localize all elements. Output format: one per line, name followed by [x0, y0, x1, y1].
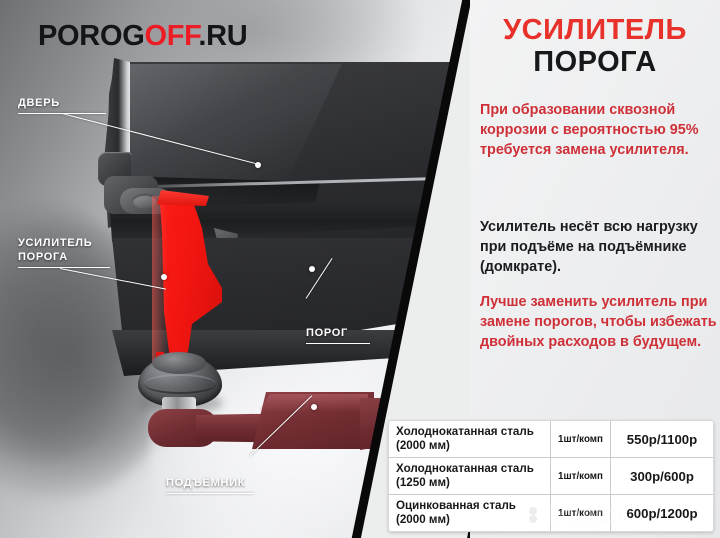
table-cell-name: Холоднокатанная сталь (1250 мм)	[389, 458, 551, 494]
paragraph-load: Усилитель несёт всю нагрузку при подъёме…	[480, 217, 718, 277]
table-cell-qty: 1шт/комп	[551, 421, 611, 457]
callout-door: ДВЕРЬ	[18, 96, 106, 114]
logo[interactable]: POROGOFF.RU	[38, 20, 247, 53]
callout-lift-underline	[166, 493, 254, 494]
leader-dot-door	[255, 162, 261, 168]
paragraph-corrosion: При образовании сквозной коррозии с веро…	[480, 100, 718, 160]
price-table: Холоднокатанная сталь (2000 мм) 1шт/комп…	[388, 420, 714, 532]
logo-part-ru: .RU	[198, 20, 247, 52]
page-title: УСИЛИТЕЛЬ ПОРОГА	[470, 14, 720, 78]
table-cell-qty: 1шт/комп	[551, 495, 611, 531]
logo-part-porog: POROG	[38, 20, 144, 52]
logo-part-off: OFF	[144, 20, 198, 52]
table-cell-qty: 1шт/комп	[551, 458, 611, 494]
leader-dot-lift	[311, 404, 317, 410]
callout-door-label: ДВЕРЬ	[18, 96, 106, 110]
page-title-line1: УСИЛИТЕЛЬ	[470, 14, 720, 46]
page-title-line2: ПОРОГА	[470, 46, 720, 78]
callout-reinforcement-label-line1: УСИЛИТЕЛЬ	[18, 236, 110, 250]
callout-reinforcement-underline	[18, 267, 110, 268]
table-cell-name: Оцинкованная сталь (2000 мм)	[389, 495, 551, 531]
table-row: Оцинкованная сталь (2000 мм) 1шт/комп 60…	[389, 495, 713, 531]
table-cell-price: 600р/1200р	[611, 495, 713, 531]
table-cell-name: Холоднокатанная сталь (2000 мм)	[389, 421, 551, 457]
infographic-canvas: ДВЕРЬ УСИЛИТЕЛЬ ПОРОГА ПОРОГ ПОДЪЁМНИК У…	[0, 0, 720, 538]
callout-sill-underline	[306, 343, 370, 344]
table-cell-price: 550р/1100р	[611, 421, 713, 457]
paragraph-advice: Лучше заменить усилитель при замене поро…	[480, 292, 718, 352]
callout-sill: ПОРОГ	[306, 326, 370, 344]
leader-dot-reinforcement	[161, 274, 167, 280]
callout-sill-label: ПОРОГ	[306, 326, 370, 340]
callout-lift-label: ПОДЪЁМНИК	[166, 476, 254, 490]
jack-pad-top	[152, 352, 206, 374]
table-row: Холоднокатанная сталь (1250 мм) 1шт/комп…	[389, 458, 713, 495]
jack-pad-groove	[144, 374, 216, 394]
callout-door-underline	[18, 113, 106, 114]
leader-dot-sill	[309, 266, 315, 272]
callout-reinforcement-label-line2: ПОРОГА	[18, 250, 110, 264]
table-row: Холоднокатанная сталь (2000 мм) 1шт/комп…	[389, 421, 713, 458]
table-cell-price: 300р/600р	[611, 458, 713, 494]
callout-reinforcement: УСИЛИТЕЛЬ ПОРОГА	[18, 236, 110, 268]
callout-lift: ПОДЪЁМНИК	[166, 476, 254, 494]
